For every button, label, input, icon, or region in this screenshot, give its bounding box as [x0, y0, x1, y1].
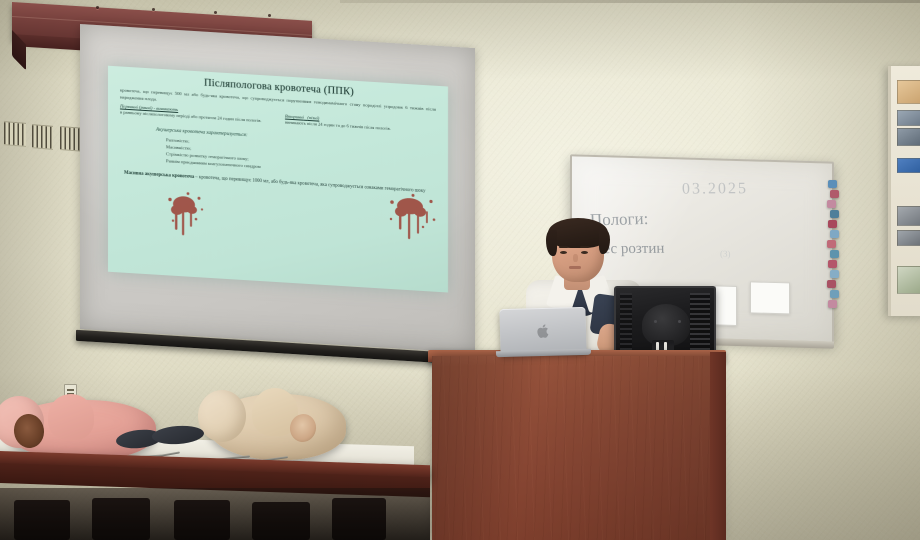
simulator-pad	[48, 394, 94, 440]
ceiling-edge-line	[340, 0, 920, 3]
monitor-vent-left	[620, 293, 632, 351]
under-table-shadow	[0, 488, 430, 540]
board-photo	[897, 206, 920, 226]
screw-icon	[152, 8, 155, 11]
magnet-icon	[828, 180, 837, 188]
board-photo	[897, 158, 920, 173]
whiteboard-date-note: 03.2025	[682, 180, 749, 198]
laptop[interactable]	[499, 307, 586, 355]
magnet-icon	[830, 210, 839, 218]
board-photo	[897, 266, 920, 294]
presenter-hair-side	[599, 230, 610, 254]
podium	[432, 356, 722, 540]
podium-side-panel	[710, 352, 726, 540]
magnet-icon	[827, 200, 836, 208]
projected-slide: Післяпологова кровотеча (ППК) кровотеча,…	[108, 66, 448, 293]
board-photo	[897, 110, 920, 126]
presenter-brow	[559, 246, 568, 248]
magnet-icon	[830, 190, 839, 198]
whiteboard-faint-note: (3)	[720, 249, 731, 259]
podium-shading	[432, 356, 722, 540]
screw-icon	[96, 6, 99, 9]
projection-screen: Післяпологова кровотеча (ППК) кровотеча,…	[80, 24, 475, 353]
magnet-icon	[828, 260, 837, 268]
ventilation-grille-icon	[4, 121, 26, 147]
screw-icon	[268, 14, 271, 17]
monitor-vent-right	[690, 293, 710, 351]
screw-icon	[214, 11, 217, 14]
presenter-brow	[580, 246, 589, 248]
magnet-icon	[830, 230, 839, 238]
magnet-icon	[827, 240, 836, 248]
magnet-icon	[830, 250, 839, 258]
lecture-hall-photo: Післяпологова кровотеча (ППК) кровотеча,…	[0, 0, 920, 540]
presenter-eye	[560, 251, 567, 254]
whiteboard-magnet-strip	[826, 178, 842, 310]
board-photo	[897, 230, 920, 246]
magnet-icon	[828, 300, 837, 308]
board-photo	[897, 128, 920, 146]
presenter-hair-side	[546, 230, 557, 256]
apple-logo-icon	[536, 323, 549, 338]
magnet-icon	[830, 290, 839, 298]
presenter-mouth	[569, 266, 581, 269]
framed-information-board	[888, 66, 920, 316]
whiteboard-paper-sheet	[750, 281, 790, 314]
monitor-dot	[654, 320, 657, 323]
board-photo	[897, 80, 920, 104]
magnet-icon	[828, 220, 837, 228]
presenter-eye	[581, 251, 588, 254]
whiteboard-paper-sheet	[715, 285, 737, 326]
presenter-nose	[573, 254, 578, 262]
magnet-icon	[827, 280, 836, 288]
ventilation-grille-icon	[32, 124, 53, 150]
simulator-cylinder	[198, 390, 246, 442]
magnet-icon	[830, 270, 839, 278]
monitor-dot	[678, 320, 681, 323]
